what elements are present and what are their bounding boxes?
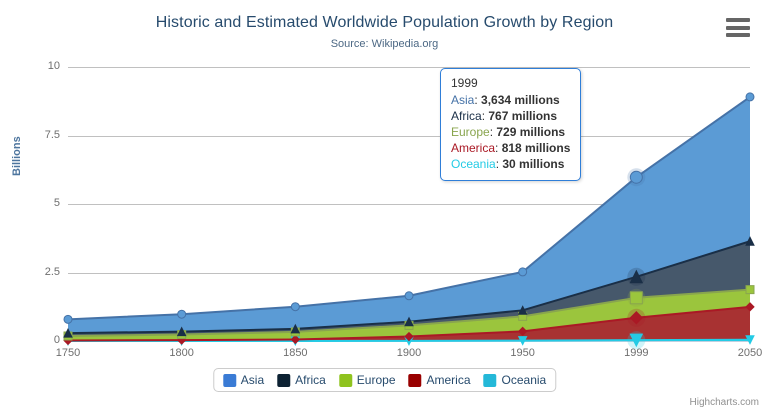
- tooltip-series-name: Asia: [451, 93, 474, 107]
- legend-label-america: America: [427, 373, 471, 387]
- legend-item-africa[interactable]: Africa: [277, 373, 326, 387]
- tooltip-row-oceania: Oceania: 30 millions: [451, 156, 570, 172]
- marker-asia-1999[interactable]: [630, 171, 642, 183]
- tooltip-header: 1999: [451, 76, 570, 90]
- legend-label-oceania: Oceania: [502, 373, 547, 387]
- legend-item-europe[interactable]: Europe: [339, 373, 396, 387]
- highcharts-container: Historic and Estimated Worldwide Populat…: [0, 0, 769, 416]
- tooltip-row-europe: Europe: 729 millions: [451, 124, 570, 140]
- x-tick-1800: 1800: [152, 347, 212, 359]
- legend-swatch-america: [409, 374, 422, 387]
- chart-tooltip: 1999 Asia: 3,634 millionsAfrica: 767 mil…: [440, 68, 581, 181]
- tooltip-series-name: America: [451, 141, 495, 155]
- legend-item-america[interactable]: America: [409, 373, 471, 387]
- credits-label: Highcharts.com: [690, 397, 759, 408]
- y-axis-title: Billions: [11, 136, 23, 176]
- x-tick-1750: 1750: [38, 347, 98, 359]
- legend-swatch-europe: [339, 374, 352, 387]
- y-tick-5: 5: [18, 197, 60, 209]
- tooltip-series-value: 30 millions: [502, 157, 564, 171]
- tooltip-series-name: Africa: [451, 109, 482, 123]
- y-tick-7.5: 7.5: [18, 129, 60, 141]
- tooltip-series-value: 3,634 millions: [481, 93, 560, 107]
- legend-label-europe: Europe: [357, 373, 396, 387]
- legend-swatch-oceania: [484, 374, 497, 387]
- menu-bar-3: [726, 33, 750, 37]
- tooltip-series-value: 729 millions: [496, 125, 565, 139]
- marker-asia-1750[interactable]: [64, 315, 72, 323]
- menu-bar-1: [726, 18, 750, 22]
- marker-asia-1950[interactable]: [519, 268, 527, 276]
- marker-europe-2050[interactable]: [746, 286, 754, 294]
- x-tick-1950: 1950: [493, 347, 553, 359]
- legend-label-africa: Africa: [295, 373, 326, 387]
- hamburger-menu-icon[interactable]: [726, 18, 750, 37]
- chart-subtitle: Source: Wikipedia.org: [0, 38, 769, 50]
- legend-swatch-africa: [277, 374, 290, 387]
- tooltip-series-value: 818 millions: [502, 141, 571, 155]
- legend-item-asia[interactable]: Asia: [223, 373, 264, 387]
- chart-legend: AsiaAfricaEuropeAmericaOceania: [213, 368, 556, 392]
- marker-asia-2050[interactable]: [746, 93, 754, 101]
- marker-asia-1800[interactable]: [178, 310, 186, 318]
- tooltip-row-asia: Asia: 3,634 millions: [451, 92, 570, 108]
- tooltip-row-africa: Africa: 767 millions: [451, 108, 570, 124]
- legend-swatch-asia: [223, 374, 236, 387]
- tooltip-series-value: 767 millions: [488, 109, 557, 123]
- marker-asia-1900[interactable]: [405, 292, 413, 300]
- y-tick-2.5: 2.5: [18, 266, 60, 278]
- menu-bar-2: [726, 26, 750, 30]
- legend-label-asia: Asia: [241, 373, 264, 387]
- x-tick-1999: 1999: [606, 347, 666, 359]
- x-tick-2050: 2050: [720, 347, 769, 359]
- tooltip-series-name: Europe: [451, 125, 490, 139]
- x-tick-1850: 1850: [265, 347, 325, 359]
- tooltip-separator: :: [474, 93, 481, 107]
- tooltip-row-america: America: 818 millions: [451, 140, 570, 156]
- legend-item-oceania[interactable]: Oceania: [484, 373, 547, 387]
- y-tick-0: 0: [18, 334, 60, 346]
- tooltip-series-name: Oceania: [451, 157, 496, 171]
- x-tick-1900: 1900: [379, 347, 439, 359]
- series-areas: [68, 97, 750, 341]
- marker-asia-1850[interactable]: [291, 303, 299, 311]
- marker-europe-1999[interactable]: [630, 292, 642, 304]
- chart-title: Historic and Estimated Worldwide Populat…: [0, 14, 769, 32]
- y-tick-10: 10: [18, 60, 60, 72]
- tooltip-separator: :: [495, 141, 502, 155]
